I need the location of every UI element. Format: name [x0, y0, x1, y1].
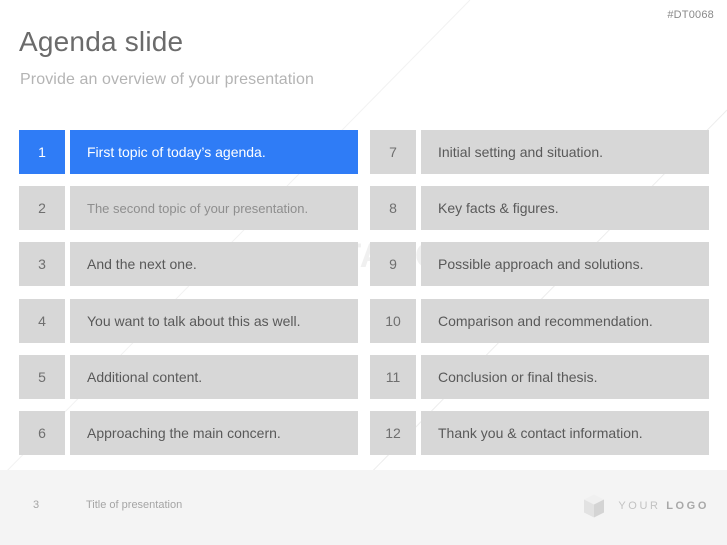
agenda-item-number: 5 — [19, 355, 65, 399]
agenda-item-label: Possible approach and solutions. — [421, 242, 709, 286]
agenda-item-label: Additional content. — [70, 355, 358, 399]
agenda-item-label: And the next one. — [70, 242, 358, 286]
agenda-item-label: First topic of today’s agenda. — [70, 130, 358, 174]
agenda-item-number: 6 — [19, 411, 65, 455]
agenda-item-label: You want to talk about this as well. — [70, 299, 358, 343]
agenda-item[interactable]: 2 The second topic of your presentation. — [19, 186, 358, 230]
page-subtitle: Provide an overview of your presentation — [20, 71, 314, 89]
logo-text-light: YOUR — [618, 500, 666, 512]
agenda-item-label: Approaching the main concern. — [70, 411, 358, 455]
logo-text: YOUR LOGO — [618, 500, 709, 512]
agenda-item[interactable]: 3 And the next one. — [19, 242, 358, 286]
agenda-item-label: Conclusion or final thesis. — [421, 355, 709, 399]
agenda-item[interactable]: 7 Initial setting and situation. — [370, 130, 709, 174]
footer-page-number: 3 — [33, 499, 39, 511]
agenda-item-label: The second topic of your presentation. — [70, 186, 358, 230]
agenda-item-number: 7 — [370, 130, 416, 174]
footer-presentation-title: Title of presentation — [86, 499, 182, 511]
agenda-item-label: Initial setting and situation. — [421, 130, 709, 174]
agenda-item-label: Thank you & contact information. — [421, 411, 709, 455]
agenda-item[interactable]: 12 Thank you & contact information. — [370, 411, 709, 455]
agenda-item[interactable]: 6 Approaching the main concern. — [19, 411, 358, 455]
agenda-item[interactable]: 4 You want to talk about this as well. — [19, 299, 358, 343]
agenda-item-number: 11 — [370, 355, 416, 399]
agenda-item-number: 8 — [370, 186, 416, 230]
agenda-item-number: 9 — [370, 242, 416, 286]
agenda-item-number: 12 — [370, 411, 416, 455]
agenda-item[interactable]: 8 Key facts & figures. — [370, 186, 709, 230]
agenda-item-label: Comparison and recommendation. — [421, 299, 709, 343]
page-title: Agenda slide — [19, 26, 183, 58]
agenda-item[interactable]: 9 Possible approach and solutions. — [370, 242, 709, 286]
agenda-item-number: 2 — [19, 186, 65, 230]
agenda-item-label: Key facts & figures. — [421, 186, 709, 230]
agenda-item-number: 4 — [19, 299, 65, 343]
agenda-item[interactable]: 5 Additional content. — [19, 355, 358, 399]
agenda-item-number: 3 — [19, 242, 65, 286]
document-id: #DT0068 — [667, 9, 714, 21]
agenda-item[interactable]: 10 Comparison and recommendation. — [370, 299, 709, 343]
logo-text-bold: LOGO — [666, 500, 709, 512]
agenda-slide: PRESENTATIONLOAD #DT0068 Agenda slide Pr… — [0, 0, 727, 545]
agenda-item-number: 1 — [19, 130, 65, 174]
agenda-item[interactable]: 11 Conclusion or final thesis. — [370, 355, 709, 399]
agenda-item[interactable]: 1 First topic of today’s agenda. — [19, 130, 358, 174]
cube-icon — [581, 493, 607, 519]
agenda-item-number: 10 — [370, 299, 416, 343]
logo: YOUR LOGO — [581, 493, 709, 519]
